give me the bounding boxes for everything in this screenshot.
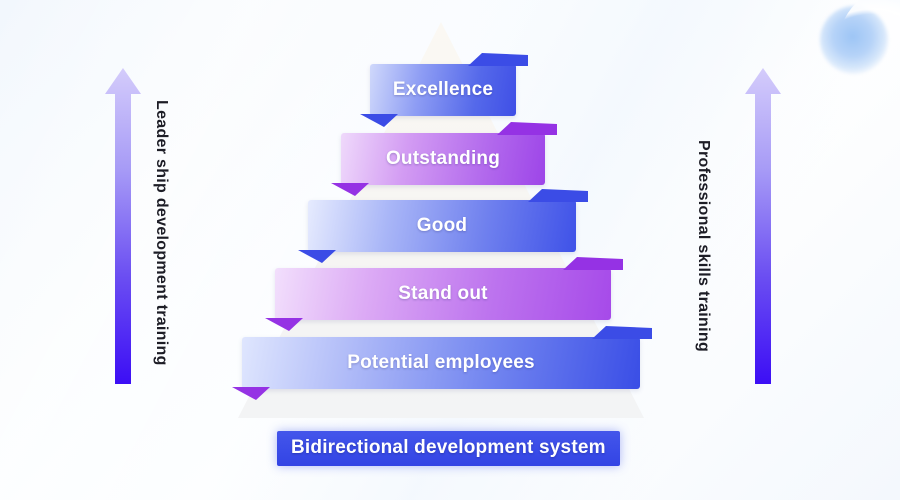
diagram-title-chip: Bidirectional development system bbox=[277, 431, 620, 466]
pyramid-level-stand-out[interactable]: Stand out bbox=[275, 268, 611, 320]
pyramid-level-label: Potential employees bbox=[242, 337, 640, 389]
right-up-arrow-icon bbox=[744, 66, 782, 386]
pyramid-level-label: Excellence bbox=[370, 64, 516, 116]
pyramid-level-label: Good bbox=[308, 200, 576, 252]
left-up-arrow-icon bbox=[104, 66, 142, 386]
pyramid-level-label: Stand out bbox=[275, 268, 611, 320]
pyramid-level-excellence[interactable]: Excellence bbox=[370, 64, 516, 116]
left-axis-caption: Leader ship development training bbox=[152, 100, 170, 366]
pyramid-level-potential-employees[interactable]: Potential employees bbox=[242, 337, 640, 389]
infographic-canvas: Excellence Outstanding Good Stand out bbox=[0, 0, 900, 500]
pyramid-level-label: Outstanding bbox=[341, 133, 545, 185]
pyramid-level-good[interactable]: Good bbox=[308, 200, 576, 252]
right-axis-caption: Professional skills training bbox=[694, 140, 712, 352]
pyramid-level-outstanding[interactable]: Outstanding bbox=[341, 133, 545, 185]
diagram-title: Bidirectional development system bbox=[291, 437, 606, 459]
